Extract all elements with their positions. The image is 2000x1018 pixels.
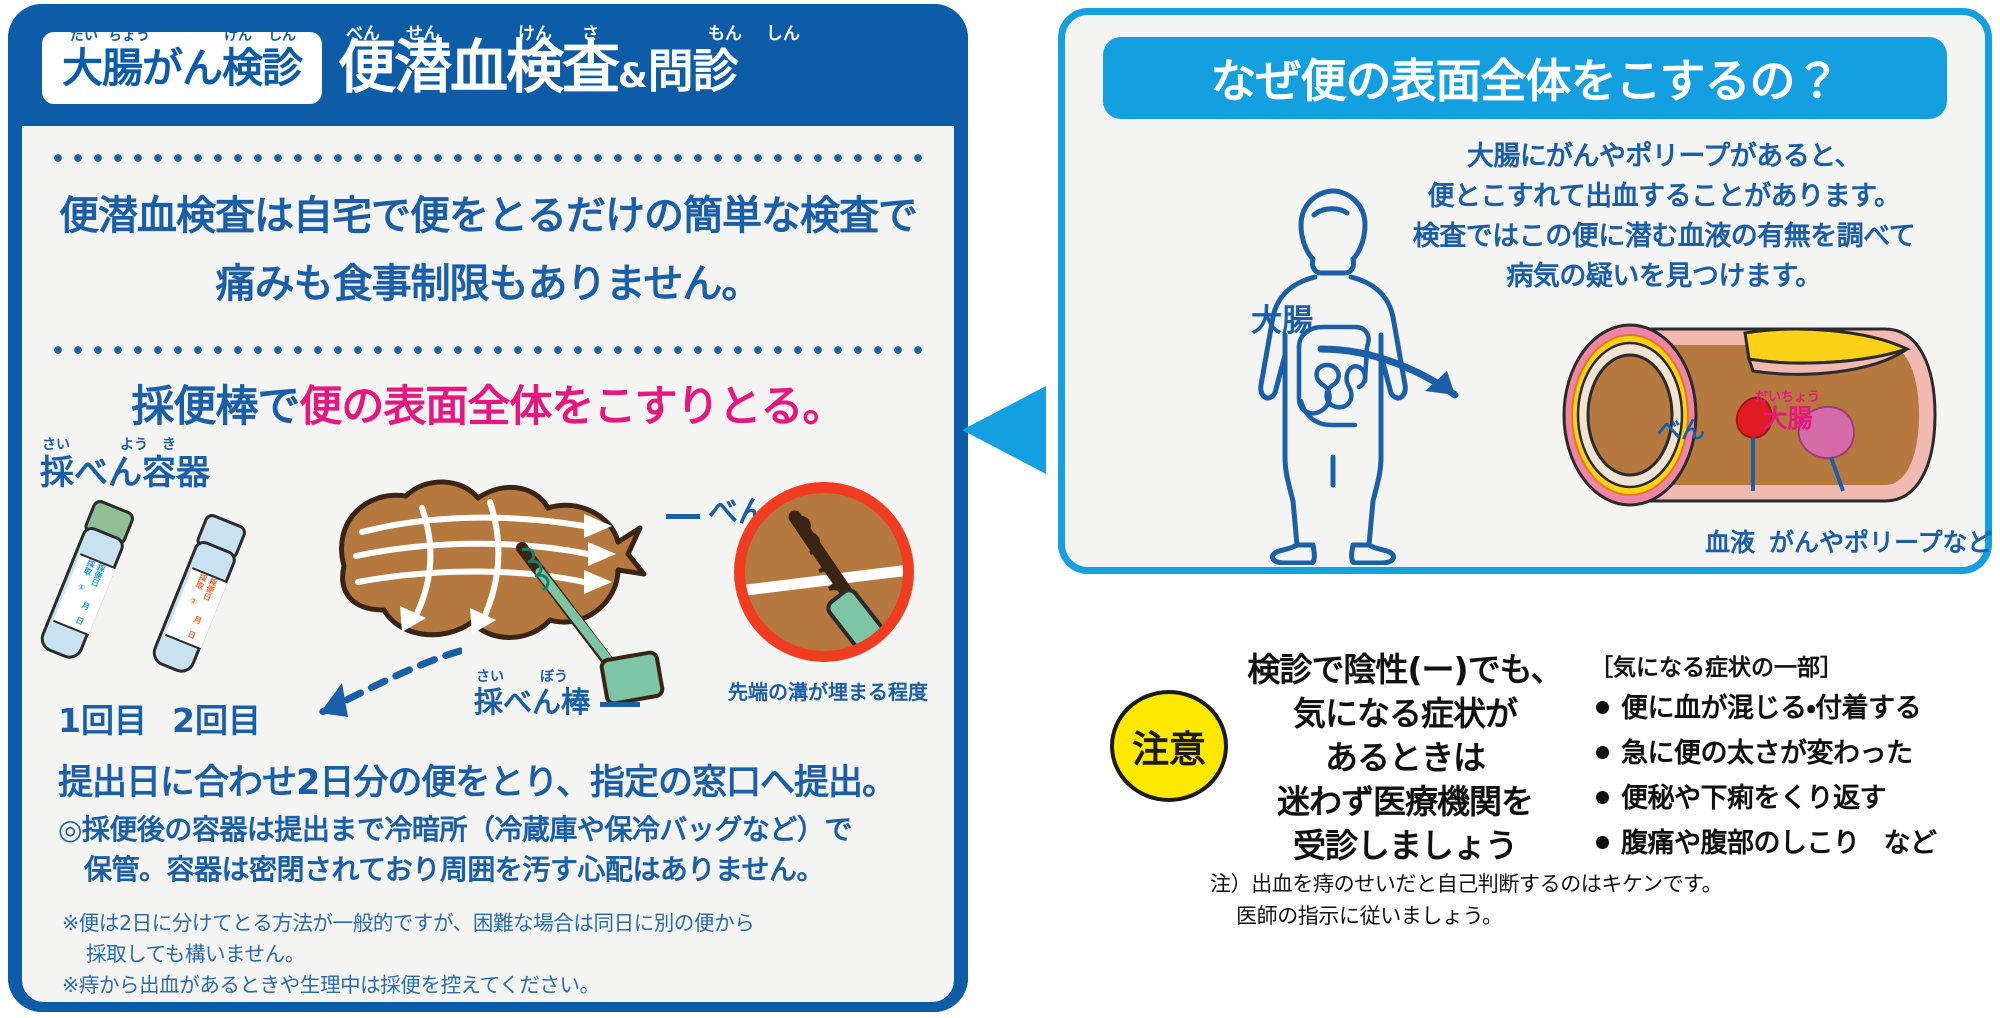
- title-sub-text: 問診: [648, 44, 738, 98]
- footnote-1b: 採取しても構いません。: [62, 939, 942, 970]
- symptoms-list: 便に血が混じる・付着する 急に便の太さが変わった 便秘や下痢をくり返す 腹痛や腹…: [1596, 686, 1996, 866]
- tube-1-ordinal: 1回目: [58, 694, 147, 742]
- container-ruby-1: さい: [42, 438, 70, 452]
- right-footnote: 注）出血を痔のせいだと自己判断するのはキケンです。 医師の指示に従いましょう。: [1210, 868, 1970, 932]
- left-footnotes: ※便は2日に分けてとる方法が一般的ですが、困難な場合は同日に別の便から 採取して…: [62, 908, 942, 1001]
- storage-line-2: 保管。容器は密閉されており周囲を汚す心配はありません。: [58, 850, 928, 890]
- explanation-paragraph: 大腸にがんやポリープがあると、 便とこすれて出血することがあります。 検査ではこ…: [1365, 137, 1963, 297]
- tube-colon-label: だいちょう 大腸: [1755, 391, 1820, 431]
- legend-blood: 血液: [1705, 528, 1755, 557]
- tube-2-label-strip: 採便日 月 日 採取 ②: [165, 567, 228, 650]
- swab-ruby-2: ぼう: [540, 670, 568, 684]
- title-ruby-5: もん: [708, 26, 742, 43]
- caution-message: 検診で陰性(ー)でも、 気になる症状が あるときは 迷わず医療機関を 受診しまし…: [1240, 648, 1570, 868]
- swab-label: さい ぼう 採べん棒: [474, 688, 590, 717]
- symptom-text-2: 急に便の太さが変わった: [1621, 738, 1913, 769]
- explanation-panel: なぜ便の表面全体をこするの？ 大腸にがんやポリープがあると、 便とこすれて出血す…: [1058, 8, 1992, 574]
- explanation-line-1: 大腸にがんやポリープがあると、: [1365, 137, 1963, 177]
- title-ruby-1: べん: [346, 26, 380, 43]
- lead-line-1: 便潜血検査は自宅で便をとるだけの簡単な検査で: [22, 182, 954, 250]
- explanation-line-2: 便とこすれて出血することがあります。: [1365, 177, 1963, 217]
- infographic-root: だい ちょう けん しん 大腸がん検診 べん せん けん さ もん しん 便潜血…: [0, 0, 2000, 1018]
- tube-1-label-strip: 採便日 月 日 採取 ①: [53, 553, 116, 636]
- swab-leader-line: [600, 702, 640, 707]
- explanation-line-3: 検査ではこの便に潜む血液の有無を調べて: [1365, 217, 1963, 257]
- dotted-divider-bottom: [48, 344, 928, 356]
- title-ruby-6: しん: [766, 26, 800, 43]
- title-ampersand: &: [618, 56, 648, 96]
- left-panel-header: だい ちょう けん しん 大腸がん検診 べん せん けん さ もん しん 便潜血…: [8, 4, 968, 126]
- left-panel: だい ちょう けん しん 大腸がん検診 べん せん けん さ もん しん 便潜血…: [8, 4, 968, 1012]
- page-title: べん せん けん さ もん しん 便潜血検査&問診: [338, 28, 938, 108]
- caution-line-3: あるときは: [1240, 736, 1570, 780]
- right-footnote-2: 医師の指示に従いましょう。: [1210, 900, 1970, 932]
- lead-statement: 便潜血検査は自宅で便をとるだけの簡単な検査で 痛みも食事制限もありません。: [22, 182, 954, 318]
- symptom-item-1: 便に血が混じる・付着する: [1596, 686, 1996, 731]
- title-ruby-2: せん: [406, 26, 440, 43]
- swab-depth-detail-circle: [734, 482, 914, 662]
- colon-cross-section-illustration: [1535, 315, 1955, 515]
- dotted-divider-top: [48, 152, 928, 164]
- tube-colon-ruby: だいちょう: [1755, 391, 1820, 404]
- symptom-text-1: 便に血が混じる・付着する: [1621, 693, 1921, 724]
- collection-illustration: さい よう き 採べん容器 採便日 月 日 採取 ①: [22, 446, 954, 746]
- bullet-dot-icon: [1596, 701, 1609, 714]
- storage-line-1: ◎採便後の容器は提出まで冷暗所（冷蔵庫や保冷バッグなど）で: [58, 810, 928, 850]
- tube-2-body: 採便日 月 日 採取 ②: [149, 538, 239, 677]
- badge-ruby-4: しん: [268, 29, 296, 43]
- zoom-pointer-arrow: [1315, 333, 1495, 423]
- storage-instruction: ◎採便後の容器は提出まで冷暗所（冷蔵庫や保冷バッグなど）で 保管。容器は密閉され…: [58, 810, 928, 890]
- symptom-text-3: 便秘や下痢をくり返す: [1621, 783, 1886, 814]
- swab-ruby-1: さい: [476, 670, 504, 684]
- caution-line-4: 迷わず医療機関を: [1240, 780, 1570, 824]
- caution-line-1: 検診で陰性(ー)でも、: [1240, 648, 1570, 692]
- detail-circle-caption: 先端の溝が埋まる程度: [728, 676, 928, 705]
- screening-badge: だい ちょう けん しん 大腸がん検診: [42, 32, 322, 104]
- tube-2-strip-text: 採便日 月 日 採取 ②: [173, 572, 220, 645]
- symptom-item-3: 便秘や下痢をくり返す: [1596, 776, 1996, 821]
- symptoms-heading: ［気になる症状の一部］: [1590, 648, 1843, 682]
- method-prefix: 採便棒で: [131, 382, 299, 432]
- caution-line-2: 気になる症状が: [1240, 692, 1570, 736]
- detail-swab-tip: [773, 507, 903, 657]
- bullet-dot-icon: [1596, 836, 1609, 849]
- cross-section-legend: 血液がんやポリープなど: [1705, 523, 1993, 559]
- tube-1-body: 採便日 月 日 採取 ①: [37, 524, 127, 663]
- lead-line-2: 痛みも食事制限もありません。: [22, 250, 954, 318]
- legend-polyp: がんやポリープなど: [1769, 528, 1993, 557]
- tube-2-ordinal: 2回目: [172, 694, 261, 742]
- title-main-text: 便潜血検査: [338, 33, 618, 101]
- right-footnote-1: 注）出血を痔のせいだと自己判断するのはキケンです。: [1210, 868, 1970, 900]
- tube-stool-label: べん: [1657, 410, 1705, 445]
- badge-label: 大腸がん検診: [62, 48, 302, 89]
- footnote-2: ※痔から出血があるときや生理中は採便を控えてください。: [62, 970, 942, 1001]
- footnote-1: ※便は2日に分けてとる方法が一般的ですが、困難な場合は同日に別の便から: [62, 908, 942, 939]
- symptom-text-4: 腹痛や腹部のしこり: [1621, 828, 1860, 859]
- badge-ruby-row: だい ちょう けん しん: [62, 29, 302, 47]
- method-statement: 採便棒で便の表面全体をこすりとる。: [22, 384, 954, 431]
- badge-ruby-1: だい: [70, 29, 98, 43]
- stool-leader-line: [666, 514, 700, 519]
- method-emphasis: 便の表面全体をこすりとる。: [299, 382, 844, 432]
- caution-badge: 注意: [1110, 690, 1228, 802]
- left-panel-body: 便潜血検査は自宅で便をとるだけの簡単な検査で 痛みも食事制限もありません。 採便…: [22, 126, 954, 1002]
- explanation-title: なぜ便の表面全体をこするの？: [1103, 37, 1947, 119]
- explanation-line-4: 病気の疑いを見つけます。: [1365, 257, 1963, 297]
- symptom-item-4: 腹痛や腹部のしこりなど: [1596, 821, 1996, 866]
- container-label: さい よう き 採べん容器: [40, 456, 210, 490]
- container-label-text: 採べん容器: [40, 453, 210, 493]
- bullet-dot-icon: [1596, 746, 1609, 759]
- colon-label: 大腸: [1251, 295, 1313, 340]
- tube-colon-main: 大腸: [1763, 404, 1813, 433]
- badge-ruby-2: ちょう: [108, 29, 150, 43]
- bullet-dot-icon: [1596, 791, 1609, 804]
- swab-label-text: 採べん棒: [474, 685, 590, 719]
- tube-1-strip-text: 採便日 月 日 採取 ①: [61, 558, 108, 631]
- caution-line-5: 受診しましょう: [1240, 824, 1570, 868]
- container-ruby-2: よう き: [120, 438, 176, 452]
- title-ruby-3: けん: [518, 26, 552, 43]
- submission-instruction: 提出日に合わせ2日分の便をとり、指定の窓口へ提出。: [58, 754, 896, 805]
- badge-ruby-3: けん: [224, 29, 252, 43]
- symptom-etc: など: [1884, 828, 1937, 859]
- symptom-item-2: 急に便の太さが変わった: [1596, 731, 1996, 776]
- title-ruby-4: さ: [582, 26, 599, 43]
- panel-connector-arrow: [960, 382, 1048, 478]
